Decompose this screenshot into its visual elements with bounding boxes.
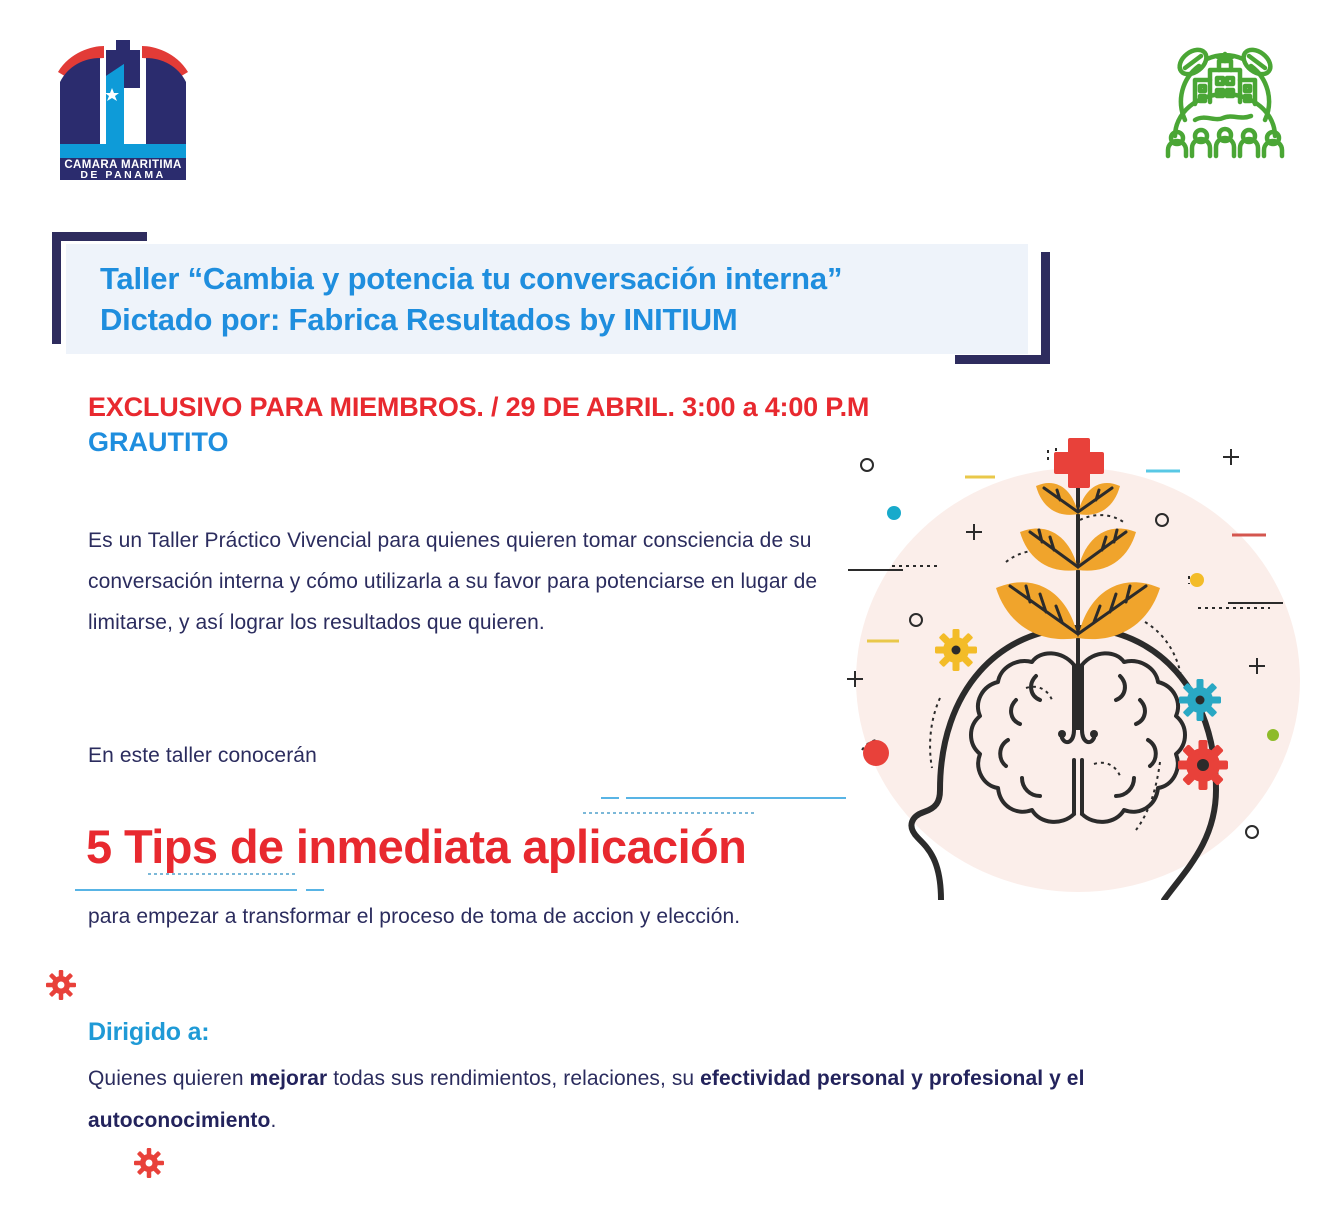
gear-icon-red <box>1178 740 1228 790</box>
gear-icon-cyan <box>1179 679 1221 721</box>
sustainable-community-icon <box>1155 28 1295 168</box>
poster-canvas: CAMARA MARITIMA DE PANAMA <box>0 0 1323 1207</box>
dirigido-a-paragraph: Quienes quieren mejorar todas sus rendim… <box>88 1058 1178 1142</box>
brain-plant-illustration <box>840 430 1310 900</box>
title-box: Taller “Cambia y potencia tu conversació… <box>66 244 1028 354</box>
intro-paragraph: Es un Taller Práctico Vivencial para qui… <box>88 520 878 643</box>
tips-heading: 5 Tips de inmediata aplicación <box>86 818 746 876</box>
title-block: Taller “Cambia y potencia tu conversació… <box>52 232 1050 364</box>
workshop-title-line1: Taller “Cambia y potencia tu conversació… <box>100 258 1028 299</box>
conoceran-paragraph: En este taller conocerán <box>88 735 588 776</box>
gear-icon-lower <box>134 1148 164 1183</box>
members-date-time-text: EXCLUSIVO PARA MIEMBROS. / 29 DE ABRIL. … <box>88 390 1088 425</box>
after-tips-paragraph: para empezar a transformar el proceso de… <box>88 900 878 933</box>
workshop-title-line2: Dictado por: Fabrica Resultados by INITI… <box>100 299 1028 340</box>
gear-icon <box>134 1148 164 1178</box>
dirigido-text-1: Quienes quieren <box>88 1067 250 1090</box>
dirigido-a-heading: Dirigido a: <box>88 1018 209 1047</box>
dirigido-text-2: todas sus rendimientos, relaciones, su <box>327 1067 700 1090</box>
deco-line-upper-right <box>626 797 846 799</box>
deco-dotted-lower <box>148 873 298 875</box>
camara-maritima-de-panama-logo: CAMARA MARITIMA DE PANAMA <box>50 32 196 180</box>
deco-dash-lower-right <box>306 889 324 891</box>
deco-dash-upper-left <box>601 797 619 799</box>
gear-icon <box>46 970 76 1000</box>
gear-icon-yellow <box>935 629 977 671</box>
dirigido-text-3: . <box>270 1109 276 1132</box>
gear-icon-upper <box>46 970 76 1005</box>
dirigido-bold-1: mejorar <box>250 1067 328 1090</box>
deco-line-lower-left <box>75 889 297 891</box>
logo-text-line2: DE PANAMA <box>80 169 165 180</box>
deco-dotted-upper <box>583 812 755 814</box>
